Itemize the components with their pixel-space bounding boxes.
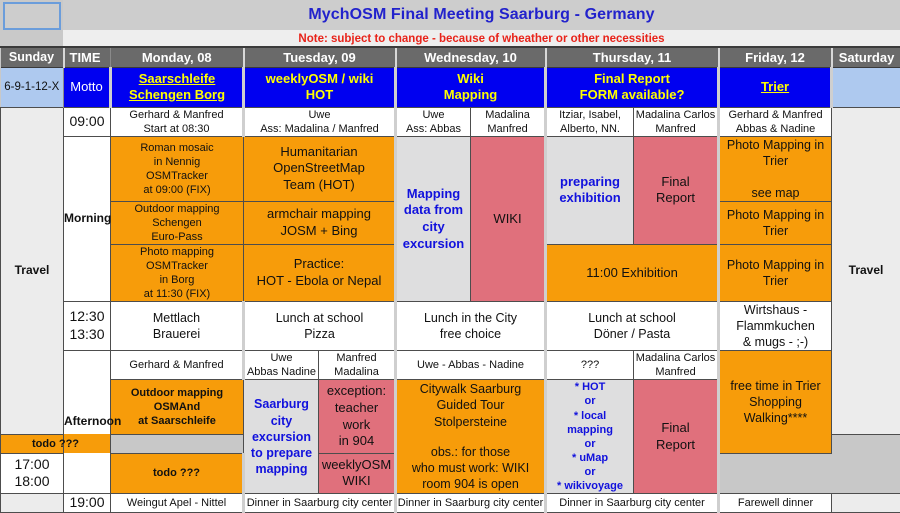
thursday-staff-afternoon-b: Madalina Carlos Manfred [634,351,719,380]
thursday-afternoon-l3: * local [574,410,606,422]
col-header-monday: Monday, 08 [111,48,244,67]
thursday-morning-fr-l2: Report [656,190,695,205]
friday-morning-1-l1: Photo Mapping in Trier [727,138,824,168]
thursday-staff-morning-a: Itziar, Isabel, Alberto, NN. [546,107,634,136]
monday-morning-2-l1: Outdoor mapping [135,203,220,215]
tuesday-afternoon-wk-l2: WIKI [342,473,370,488]
tuesday-staff-afternoon-b-l2: Madalina [334,366,379,378]
tuesday-afternoon-excursion: Saarburg city excursion to prepare mappi… [244,380,319,494]
motto-tuesday-line2: HOT [306,87,333,102]
tuesday-staff-afternoon-a: Uwe Abbas Nadine [244,351,319,380]
dinner-row: 19:00 Weingut Apel - Nittel Dinner in Sa… [1,493,900,512]
tuesday-staff-morning-l2: Ass: Madalina / Manfred [260,123,379,135]
monday-morning-2-l2: Schengen [152,217,202,229]
tuesday-afternoon-exc-l4: in 904 [339,433,374,448]
col-header-wednesday: Wednesday, 10 [396,48,546,67]
wednesday-afternoon-l1: Citywalk Saarburg [420,382,521,396]
friday-dinner: Farewell dinner [719,493,832,512]
thursday-afternoon-l6: * uMap [572,452,608,464]
motto-wednesday-line1: Wiki [457,71,484,86]
thursday-staff-morning-b-l1: Madalina Carlos [636,109,715,121]
wednesday-dinner: Dinner in Saarburg city center [396,493,546,512]
row-label-afternoon-text: Afternoon [64,414,121,428]
thursday-lunch-l2: Döner / Pasta [594,327,670,341]
wednesday-afternoon-citywalk: Citywalk Saarburg Guided Tour Stolperste… [396,380,546,494]
monday-morning-3: Photo mapping OSMTracker in Borg at 11:3… [111,244,244,301]
tuesday-staff-afternoon-a-l1: Uwe [270,352,292,364]
motto-monday: Saarschleife Schengen Borg [111,67,244,107]
tuesday-afternoon-l2: city [271,414,293,428]
time-lunch-l1: 12:30 [69,308,104,324]
monday-morning-3-l4: at 11:30 (FIX) [144,288,210,300]
wednesday-morning-l3: city [422,219,444,234]
thursday-afternoon-l4: mapping [567,424,613,436]
thursday-morning-fr-l1: Final [661,174,689,189]
time-lunch: 12:30 13:30 [64,302,111,351]
friday-staff-morning-l2: Abbas & Nadine [736,123,816,135]
time-evening-l2: 18:00 [14,473,49,489]
tuesday-lunch-l1: Lunch at school [276,311,364,325]
monday-dinner: Weingut Apel - Nittel [111,493,244,512]
thursday-lunch-l1: Lunch at school [588,311,676,325]
wednesday-staff-morning-a-l1: Uwe [422,109,444,121]
monday-morning-1: Roman mosaic in Nennig OSMTracker at 09:… [111,136,244,201]
tuesday-afternoon-exc-l3: work [343,417,370,432]
tuesday-morning-1-l3: Team (HOT) [283,177,355,192]
wednesday-morning-wiki: WIKI [471,136,546,302]
friday-morning-2: Photo Mapping in Trier [719,201,832,244]
friday-morning-1: Photo Mapping in Trier see map [719,136,832,201]
tuesday-morning-2-l1: armchair mapping [267,206,371,221]
thursday-staff-morning-a-l1: Itziar, Isabel, [559,109,621,121]
tuesday-morning-1: Humanitarian OpenStreetMap Team (HOT) [244,136,396,201]
tuesday-staff-afternoon-b-l1: Manfred [336,352,376,364]
thursday-morning-final-report: Final Report [634,136,719,244]
thursday-dinner: Dinner in Saarburg city center [546,493,719,512]
selected-cell[interactable] [3,2,61,30]
motto-thursday-line2: FORM available? [580,87,685,102]
thursday-afternoon-l1: * HOT [575,381,606,393]
wednesday-afternoon-l7: room 904 is open [422,477,519,491]
tuesday-afternoon-exception: exception: teacher work in 904 [319,380,396,454]
tuesday-afternoon-l3: excursion [252,430,311,444]
wednesday-afternoon-l5: obs.: for those [431,445,510,459]
monday-morning-3-l1: Photo mapping [140,246,214,258]
motto-wednesday: Wiki Mapping [396,67,546,107]
wednesday-morning-l2: data from [404,202,463,217]
monday-morning-1-l2: in Nennig [154,156,200,168]
time-evening-l1: 17:00 [14,456,49,472]
saturday-motto-blank [832,67,900,107]
wednesday-afternoon-l3: Stolpersteine [434,415,507,429]
thursday-afternoon-l5: or [585,438,596,450]
thursday-afternoon-l2: or [585,395,596,407]
thursday-afternoon-fr-l1: Final [661,420,689,435]
monday-lunch-l1: Mettlach [153,311,200,325]
friday-afternoon-l1: free time in Trier [730,379,820,393]
thursday-staff-afternoon-b-l1: Madalina Carlos [636,352,715,364]
thursday-afternoon-fr-l2: Report [656,437,695,452]
tuesday-lunch: Lunch at school Pizza [244,302,396,351]
motto-friday-label: Trier [761,79,789,94]
staff-afternoon-row: Afternoon Gerhard & Manfred Uwe Abbas Na… [1,351,900,380]
monday-afternoon-3: todo ??? [111,453,244,493]
tuesday-morning-3-l2: HOT - Ebola or Nepal [257,273,382,288]
monday-afternoon-1: Outdoor mapping OSMAnd at Saarschleife [111,380,244,434]
wednesday-afternoon-l2: Guided Tour [437,398,505,412]
thursday-staff-morning-a-l2: Alberto, NN. [560,123,620,135]
saturday-travel: Travel [832,107,900,434]
monday-afternoon-1-l2: OSMAnd [154,401,200,413]
friday-lunch: Wirtshaus - Flammkuchen & mugs - ;-) [719,302,832,351]
tuesday-morning-3-l1: Practice: [294,256,345,271]
tuesday-morning-2-l2: JOSM + Bing [281,223,358,238]
sunday-travel: Travel [1,107,64,434]
monday-staff-afternoon: Gerhard & Manfred [111,351,244,380]
friday-afternoon-l2: Shopping [749,395,802,409]
tuesday-staff-morning: Uwe Ass: Madalina / Manfred [244,107,396,136]
tuesday-morning-2: armchair mapping JOSM + Bing [244,201,396,244]
wednesday-morning-l1: Mapping [407,186,460,201]
tuesday-staff-morning-l1: Uwe [308,109,330,121]
thursday-afternoon-l8: * wikivoyage [557,480,623,492]
wednesday-lunch-l1: Lunch in the City [424,311,517,325]
wednesday-lunch: Lunch in the City free choice [396,302,546,351]
thursday-morning-preparing: preparing exhibition [546,136,634,244]
monday-lunch: Mettlach Brauerei [111,302,244,351]
monday-staff-morning: Gerhard & Manfred Start at 08:30 [111,107,244,136]
col-header-friday: Friday, 12 [719,48,832,67]
monday-morning-2: Outdoor mapping Schengen Euro-Pass [111,201,244,244]
row-label-morning: Morning [64,136,111,302]
monday-morning-3-l2: OSMTracker [146,260,208,272]
wednesday-staff-morning-b: Madalina Manfred [471,107,546,136]
col-header-saturday: Saturday [832,48,900,67]
monday-afternoon-1-l3: at Saarschleife [138,415,216,427]
tuesday-morning-1-l1: Humanitarian [280,144,357,159]
motto-thursday-line1: Final Report [594,71,670,86]
wednesday-afternoon-l6: who must work: WIKI [412,461,529,475]
thursday-afternoon-options: * HOT or * local mapping or * uMap or * … [546,380,634,494]
motto-row: 6-9-1-12-X Motto Saarschleife Schengen B… [1,67,900,107]
motto-tuesday-line1: weeklyOSM / wiki [266,71,374,86]
staff-morning-row: Travel 09:00 Gerhard & Manfred Start at … [1,107,900,136]
thursday-lunch: Lunch at school Döner / Pasta [546,302,719,351]
col-header-tuesday: Tuesday, 09 [244,48,396,67]
time-evening: 17:00 18:00 [1,453,64,493]
day-header-row: Sunday TIME Monday, 08 Tuesday, 09 Wedne… [1,48,900,67]
time-dinner: 19:00 [64,493,111,512]
motto-wednesday-line2: Mapping [444,87,497,102]
friday-lunch-l3: & mugs - ;-) [743,335,808,349]
tuesday-afternoon-wk-l1: weeklyOSM [322,457,391,472]
wednesday-staff-morning-b-l2: Manfred [487,123,527,135]
thursday-morning-prep-l2: exhibition [559,190,620,205]
tuesday-afternoon-exc-l2: teacher [335,400,378,415]
col-header-time: TIME [64,48,111,67]
friday-morning-3: Photo Mapping in Trier [719,244,832,301]
tuesday-afternoon-l1: Saarburg [254,397,309,411]
wednesday-staff-morning-b-l1: Madalina [485,109,530,121]
thursday-morning-prep-l1: preparing [560,174,620,189]
monday-lunch-l2: Brauerei [153,327,200,341]
monday-staff-morning-l2: Start at 08:30 [143,123,209,135]
thursday-staff-afternoon-a: ??? [546,351,634,380]
wednesday-staff-morning-a-l2: Ass: Abbas [406,123,461,135]
spreadsheet-window: MychOSM Final Meeting Saarburg - Germany… [0,0,900,500]
tuesday-afternoon-l4: to prepare [251,446,312,460]
tuesday-afternoon-weeklyosm: weeklyOSM WIKI [319,453,396,493]
friday-afternoon-l3: Walking**** [744,411,807,425]
wednesday-staff-afternoon: Uwe - Abbas - Nadine [396,351,546,380]
tuesday-afternoon-exc-l1: exception: [327,383,386,398]
thursday-afternoon-l7: or [585,466,596,478]
motto-tuesday: weeklyOSM / wiki HOT [244,67,396,107]
wednesday-morning-mapping: Mapping data from city excursion [396,136,471,302]
row-label-afternoon: Afternoon [64,351,111,494]
tuesday-dinner: Dinner in Saarburg city center [244,493,396,512]
sunday-dinner-blank [1,493,64,512]
motto-monday-line2: Schengen Borg [129,87,225,102]
monday-staff-morning-l1: Gerhard & Manfred [129,109,223,121]
friday-staff-morning-l1: Gerhard & Manfred [728,109,822,121]
thursday-staff-afternoon-b-l2: Manfred [655,366,695,378]
wednesday-lunch-l2: free choice [440,327,501,341]
friday-morning-1-l2: see map [752,186,800,200]
tuesday-morning-1-l2: OpenStreetMap [273,160,365,175]
monday-morning-1-l4: at 09:00 (FIX) [143,184,210,196]
monday-morning-2-l3: Euro-Pass [151,231,202,243]
col-header-sunday: Sunday [1,48,64,67]
thursday-afternoon-final-report: Final Report [634,380,719,494]
tuesday-morning-3: Practice: HOT - Ebola or Nepal [244,244,396,301]
morning-row-1: Morning Roman mosaic in Nennig OSMTracke… [1,136,900,201]
monday-afternoon-2: todo ??? [1,434,111,453]
thursday-staff-morning-b-l2: Manfred [655,123,695,135]
wednesday-morning-l4: excursion [403,236,464,251]
wednesday-staff-morning-a: Uwe Ass: Abbas [396,107,471,136]
monday-morning-1-l1: Roman mosaic [140,142,213,154]
tuesday-lunch-l2: Pizza [304,327,335,341]
motto-label: Motto [64,67,111,107]
tuesday-staff-afternoon-a-l2: Abbas Nadine [247,366,316,378]
monday-afternoon-1-l1: Outdoor mapping [131,387,223,399]
tuesday-afternoon-l5: mapping [255,462,307,476]
monday-morning-3-l3: in Borg [160,274,195,286]
friday-lunch-l1: Wirtshaus - [744,303,807,317]
time-0900: 09:00 [64,107,111,136]
schedule-table: Sunday TIME Monday, 08 Tuesday, 09 Wedne… [0,48,900,513]
page-title: MychOSM Final Meeting Saarburg - Germany [63,0,900,30]
friday-lunch-l2: Flammkuchen [736,319,815,333]
thursday-morning-exhibition: 11:00 Exhibition [546,244,719,301]
sunday-code: 6-9-1-12-X [1,67,64,107]
thursday-staff-morning-b: Madalina Carlos Manfred [634,107,719,136]
tuesday-staff-afternoon-b: Manfred Madalina [319,351,396,380]
saturday-dinner-blank [832,493,900,512]
motto-thursday: Final Report FORM available? [546,67,719,107]
friday-staff-morning: Gerhard & Manfred Abbas & Nadine [719,107,832,136]
motto-monday-line1: Saarschleife [139,71,216,86]
lunch-row: 12:30 13:30 Mettlach Brauerei Lunch at s… [1,302,900,351]
motto-friday: Trier [719,67,832,107]
col-header-thursday: Thursday, 11 [546,48,719,67]
friday-afternoon-freetime: free time in Trier Shopping Walking**** [719,351,832,454]
monday-morning-1-l3: OSMTracker [146,170,208,182]
time-lunch-l2: 13:30 [69,326,104,342]
